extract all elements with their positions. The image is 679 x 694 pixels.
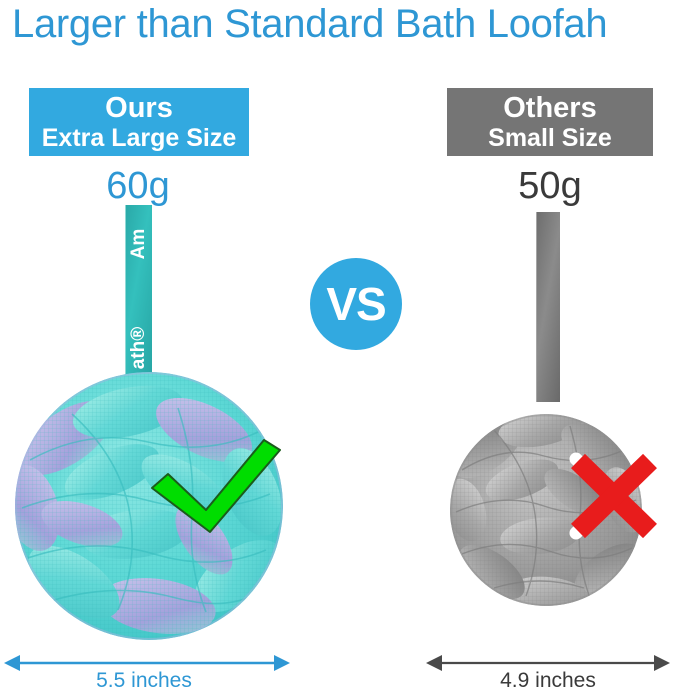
ours-hanging-strap: Am ath®	[125, 205, 152, 395]
ours-strap-text-bottom: ath®	[128, 327, 150, 370]
others-hanging-strap	[536, 212, 560, 402]
ours-plate-line2: Extra Large Size	[42, 124, 237, 153]
versus-badge: VS	[310, 258, 402, 350]
cross-mark-icon	[562, 447, 666, 545]
ours-weight-label: 60g	[78, 164, 198, 208]
ours-plate-line1: Ours	[105, 92, 173, 124]
others-label-plate: Others Small Size	[447, 88, 653, 156]
versus-label: VS	[326, 281, 385, 327]
others-weight-label: 50g	[490, 164, 610, 208]
ours-label-plate: Ours Extra Large Size	[29, 88, 249, 156]
ours-strap-text-top: Am	[128, 229, 150, 260]
others-plate-line2: Small Size	[488, 124, 612, 153]
page-title: Larger than Standard Bath Loofah	[12, 0, 672, 52]
check-mark-icon	[148, 436, 284, 536]
others-measure-label: 4.9 inches	[448, 668, 648, 694]
others-plate-line1: Others	[503, 92, 596, 124]
comparison-infographic: Larger than Standard Bath Loofah Ours Ex…	[0, 0, 679, 694]
ours-measure-label: 5.5 inches	[44, 668, 244, 694]
